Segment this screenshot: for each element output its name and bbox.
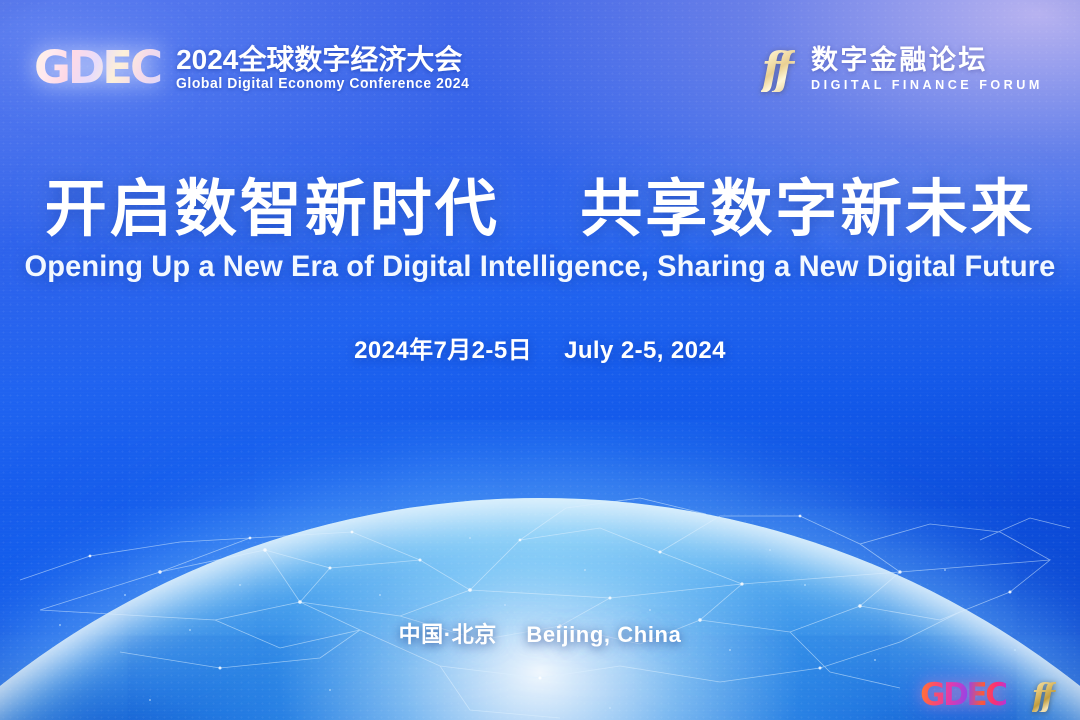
dff-title-en: DIGITAL FINANCE FORUM <box>811 78 1043 91</box>
conference-backdrop-screen: GDEC 2024全球数字经济大会 Global Digital Economy… <box>0 0 1080 720</box>
event-location-cn: 中国·北京 <box>399 622 497 647</box>
slogan-cn-part2: 共享数字新未来 <box>580 175 1035 244</box>
globe-network-lines-icon <box>0 420 1080 720</box>
gdec-logo-icon: GDEC <box>32 45 162 90</box>
event-location-en: Beijing, China <box>526 622 681 647</box>
event-date-en: July 2-5, 2024 <box>564 337 726 364</box>
gdec-brand-text: 2024全球数字经济大会 Global Digital Economy Conf… <box>176 44 482 92</box>
dff-brand-lockup: ff 数字金融论坛 DIGITAL FINANCE FORUM <box>761 46 1050 92</box>
footer-logo-group: GDEC ff <box>920 679 1056 712</box>
main-slogan-block: 开启数智新时代 共享数字新未来 Opening Up a New Era of … <box>0 176 1080 365</box>
gdec-footer-logo-icon: GDEC <box>920 680 1006 711</box>
event-location: 中国·北京 Beijing, China <box>0 617 1080 649</box>
ff-monogram-logo-icon: ff <box>761 46 795 92</box>
event-dates: 2024年7月2-5日 July 2-5, 2024 <box>0 330 1080 365</box>
header-bar: GDEC 2024全球数字经济大会 Global Digital Economy… <box>0 0 1080 140</box>
slogan-en: Opening Up a New Era of Digital Intellig… <box>8 250 1072 284</box>
event-date-cn: 2024年7月2-5日 <box>354 337 532 364</box>
dff-title-cn: 数字金融论坛 <box>811 47 1050 74</box>
slogan-cn-part1: 开启数智新时代 <box>45 175 500 244</box>
gdec-title-cn: 2024全球数字经济大会 <box>176 46 482 74</box>
gdec-title-en: Global Digital Economy Conference 2024 <box>176 77 469 92</box>
globe-graphic <box>0 420 1080 720</box>
dff-brand-text: 数字金融论坛 DIGITAL FINANCE FORUM <box>811 47 1050 91</box>
gdec-brand-lockup: GDEC 2024全球数字经济大会 Global Digital Economy… <box>32 44 482 92</box>
ff-footer-logo-icon: ff <box>1032 679 1056 712</box>
slogan-cn: 开启数智新时代 共享数字新未来 <box>0 176 1080 244</box>
